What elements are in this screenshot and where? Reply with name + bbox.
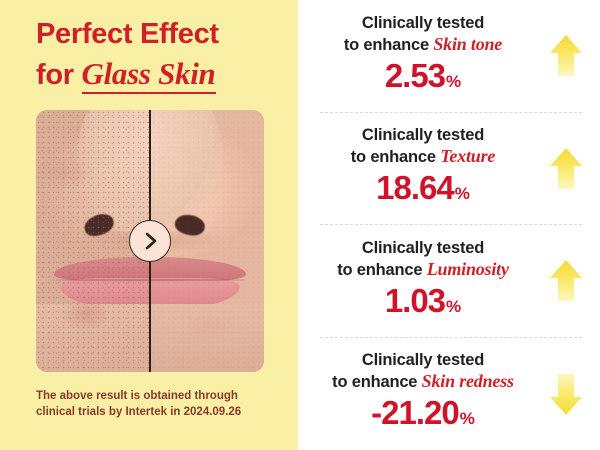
stat-text: Clinically tested to enhance Luminosity … — [298, 225, 548, 338]
stat-metric-name: Luminosity — [427, 259, 509, 279]
stat-value: 2.53% — [385, 58, 461, 100]
headline-emphasis: Glass Skin — [82, 56, 216, 94]
arrow-up-icon — [548, 31, 584, 81]
stat-number: 18.64 — [376, 169, 454, 206]
arrow-up-icon — [548, 256, 584, 306]
stat-value: -21.20% — [371, 395, 475, 437]
chevron-right-icon — [142, 231, 159, 251]
stat-block-luminosity: Clinically tested to enhance Luminosity … — [298, 225, 600, 338]
stat-unit: % — [446, 72, 461, 91]
stat-value: 18.64% — [376, 170, 470, 212]
stat-number: 2.53 — [385, 57, 445, 94]
stat-metric-name: Skin tone — [433, 34, 502, 54]
clinical-trial-caption: The above result is obtained through cli… — [36, 388, 286, 420]
stat-line-2: to enhance Skin tone — [344, 34, 502, 56]
caption-line-2: clinical trials by Intertek in 2024.09.2… — [36, 404, 286, 420]
stat-text: Clinically tested to enhance Skin rednes… — [298, 338, 548, 450]
stat-line-2: to enhance Texture — [351, 146, 495, 168]
arrow-down-icon — [548, 369, 584, 419]
stat-line-1: Clinically tested — [362, 13, 484, 34]
headline-prefix: for — [36, 59, 82, 91]
stat-text: Clinically tested to enhance Skin tone 2… — [298, 0, 548, 113]
arrow-up-icon — [548, 144, 584, 194]
stat-line-2-prefix: to enhance — [344, 36, 434, 54]
stat-block-texture: Clinically tested to enhance Texture 18.… — [298, 113, 600, 226]
stat-text: Clinically tested to enhance Texture 18.… — [298, 113, 548, 226]
stat-unit: % — [460, 409, 475, 428]
caption-line-1: The above result is obtained through — [36, 388, 286, 404]
stat-metric-name: Skin redness — [422, 371, 514, 391]
comparison-slider-handle[interactable] — [129, 220, 171, 262]
stat-metric-name: Texture — [440, 146, 495, 166]
stat-line-1: Clinically tested — [362, 125, 484, 146]
stat-line-2: to enhance Luminosity — [337, 259, 509, 281]
left-panel: Perfect Effect for Glass Skin — [0, 0, 298, 450]
stats-panel: Clinically tested to enhance Skin tone 2… — [298, 0, 600, 450]
stat-line-2-prefix: to enhance — [351, 148, 441, 166]
stat-number: -21.20 — [371, 394, 459, 431]
headline-line-1: Perfect Effect — [36, 16, 286, 53]
stat-line-1: Clinically tested — [362, 350, 484, 371]
promo-graphic: Perfect Effect for Glass Skin — [0, 0, 600, 450]
stat-value: 1.03% — [385, 283, 461, 325]
before-after-photo[interactable] — [36, 110, 264, 372]
stat-number: 1.03 — [385, 282, 445, 319]
stat-block-skin-redness: Clinically tested to enhance Skin rednes… — [298, 338, 600, 450]
stat-line-2-prefix: to enhance — [337, 261, 427, 279]
stat-unit: % — [455, 184, 470, 203]
stat-unit: % — [446, 297, 461, 316]
stat-line-2-prefix: to enhance — [332, 373, 422, 391]
headline-line-2: for Glass Skin — [36, 55, 286, 94]
stat-line-1: Clinically tested — [362, 238, 484, 259]
stat-line-2: to enhance Skin redness — [332, 371, 514, 393]
stat-block-skin-tone: Clinically tested to enhance Skin tone 2… — [298, 0, 600, 113]
headline: Perfect Effect for Glass Skin — [36, 16, 286, 94]
